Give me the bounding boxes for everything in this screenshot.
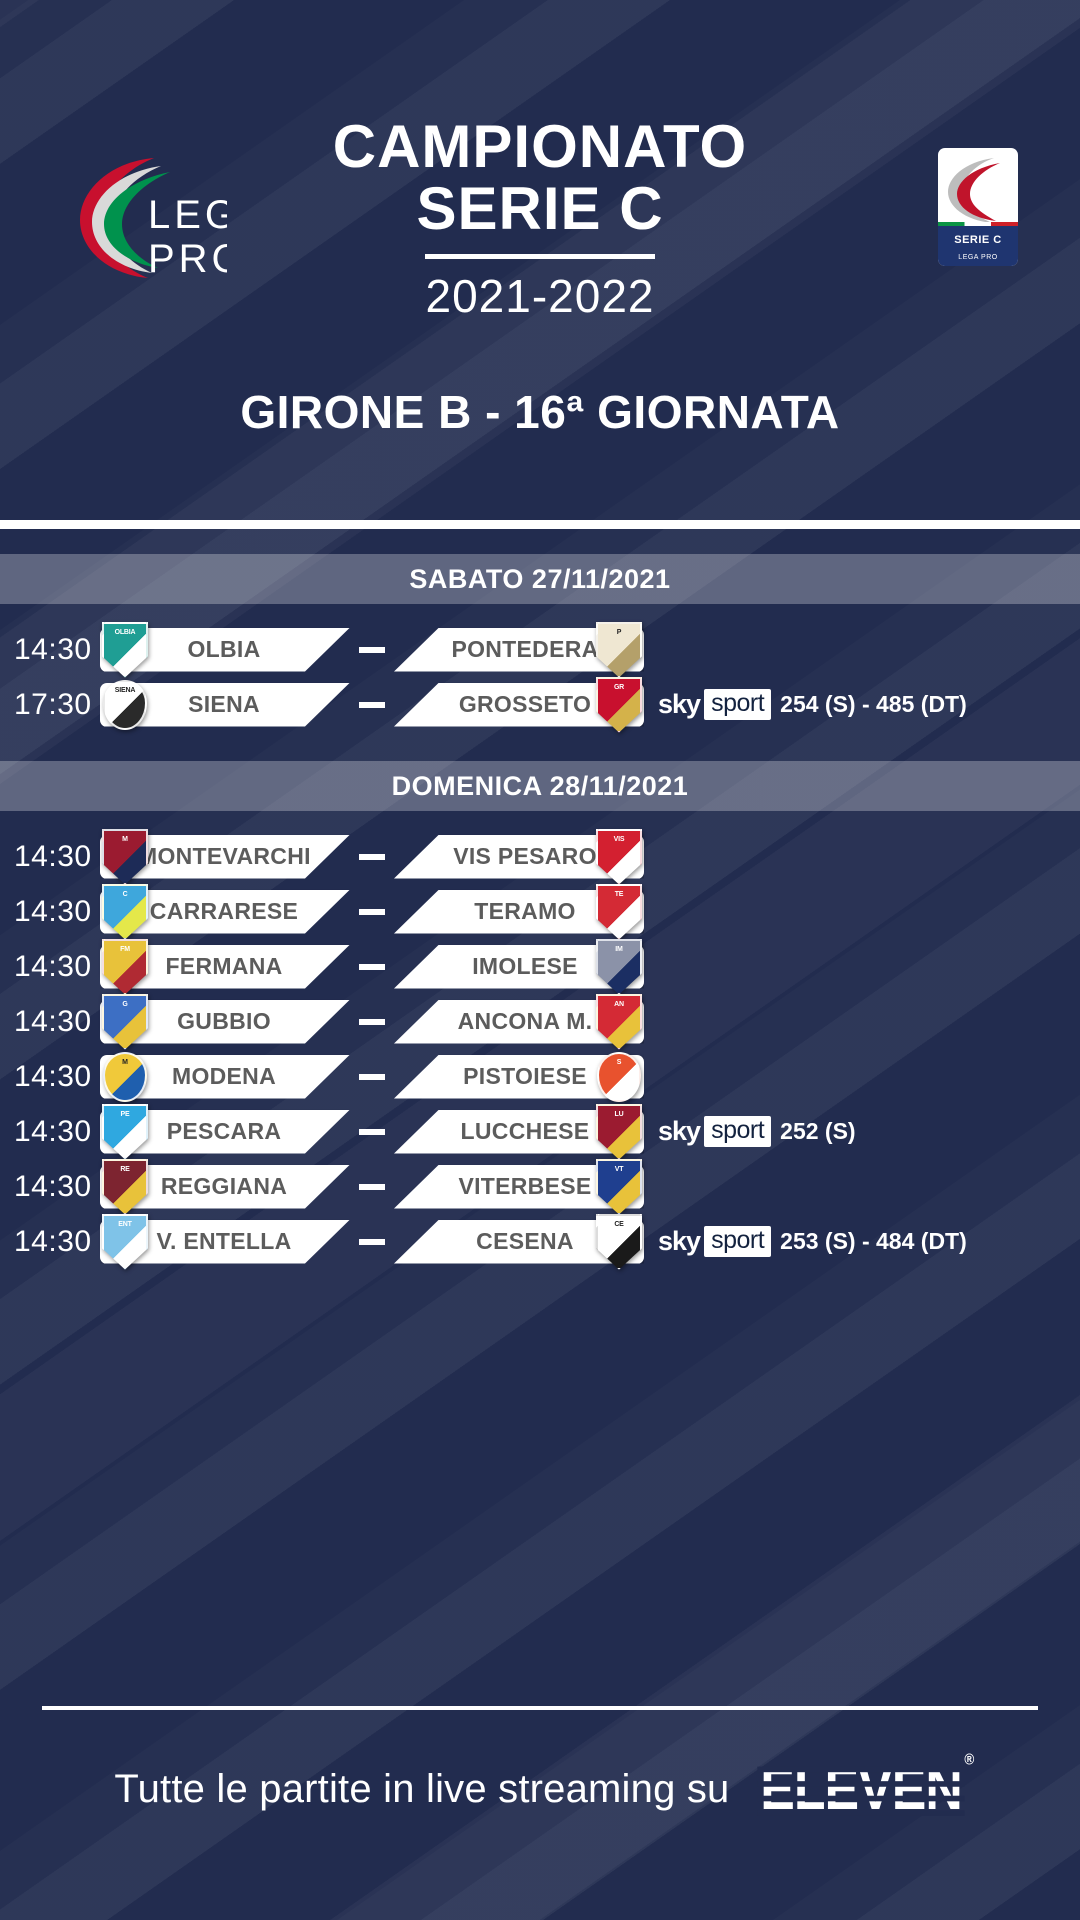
lega-pro-logo: LEGA PRO [62,140,227,290]
away-team[interactable]: ANCONA M.AN [394,1000,644,1044]
day-header-label: DOMENICA 28/11/2021 [392,771,689,802]
crest-graphic: VT [596,1159,642,1215]
crest-graphic: ENT [102,1214,148,1270]
match-teams: GUBBIOGANCONA M.AN [100,1000,644,1044]
match-row[interactable]: 14:30REGGIANAREVITERBESEVT [0,1159,1080,1214]
header-divider [0,520,1080,529]
spacer [0,732,1080,761]
crest-graphic: M [103,1052,147,1102]
siena-crest: SIENA [102,677,148,733]
away-team[interactable]: VITERBESEVT [394,1165,644,1209]
match-row[interactable]: 14:30MODENAMPISTOIESES [0,1049,1080,1104]
match-time: 14:30 [0,1170,100,1204]
match-time: 14:30 [0,633,100,667]
sport-wordmark: sport [704,1116,771,1146]
versus-separator [350,1074,394,1080]
day-header-2: DOMENICA 28/11/2021 [0,761,1080,811]
footer-divider [42,1706,1038,1710]
sport-wordmark: sport [704,1226,771,1256]
svg-text:LEGA: LEGA [148,193,227,237]
poster-footer: Tutte le partite in live streaming su EL… [0,1662,1080,1920]
crest-label: C [104,891,146,898]
match-row[interactable]: 14:30GUBBIOGANCONA M.AN [0,994,1080,1049]
grosseto-crest: GR [596,677,642,733]
crest-graphic: SIENA [103,680,147,730]
crest-graphic: FM [102,939,148,995]
giornata-label: GIRONE B - 16ª GIORNATA [0,385,1080,439]
spacer [0,604,1080,622]
carrarese-crest: C [102,884,148,940]
away-team[interactable]: IMOLESEIM [394,945,644,989]
versus-separator [350,909,394,915]
crest-label: VIS [598,836,640,843]
broadcast-info: skysport253 (S) - 484 (DT) [658,1226,967,1256]
broadcast-channels: 252 (S) [780,1118,855,1145]
crest-label: ENT [104,1221,146,1228]
crest-graphic: PE [102,1104,148,1160]
olbia-crest: OLBIA [102,622,148,678]
sky-sport-logo: skysport [658,1116,771,1146]
away-team[interactable]: VIS PESAROVIS [394,835,644,879]
home-team[interactable]: CARRARESEC [100,890,350,934]
versus-separator [350,1184,394,1190]
ancona-crest: AN [596,994,642,1050]
crest-label: TE [598,891,640,898]
crest-graphic: VIS [596,829,642,885]
home-team[interactable]: PESCARAPE [100,1110,350,1154]
crest-graphic: LU [596,1104,642,1160]
match-row[interactable]: 14:30PESCARAPELUCCHESELUskysport252 (S) [0,1104,1080,1159]
home-team[interactable]: SIENASIENA [100,683,350,727]
sport-wordmark: sport [704,689,771,719]
match-teams: SIENASIENAGROSSETOGR [100,683,644,727]
crest-graphic: C [102,884,148,940]
versus-separator [350,854,394,860]
match-time: 14:30 [0,895,100,929]
away-team[interactable]: LUCCHESELU [394,1110,644,1154]
serie-c-badge-title: SERIE C [938,234,1018,246]
crest-label: GR [598,684,640,691]
versus-separator [350,1239,394,1245]
home-team[interactable]: MONTEVARCHIM [100,835,350,879]
match-row[interactable]: 14:30CARRARESECTERAMOTE [0,884,1080,939]
match-row[interactable]: 14:30OLBIAOLBIAPONTEDERAP [0,622,1080,677]
home-team[interactable]: GUBBIOG [100,1000,350,1044]
match-time: 17:30 [0,688,100,722]
match-time: 14:30 [0,1225,100,1259]
matchday-poster: LEGA PRO SERIE C LEGA PRO CAMPIONATO SER… [0,0,1080,1920]
match-teams: MODENAMPISTOIESES [100,1055,644,1099]
match-row[interactable]: 14:30V. ENTELLAENTCESENACEskysport253 (S… [0,1214,1080,1269]
sky-wordmark: sky [658,1228,704,1255]
crest-label: RE [104,1166,146,1173]
crest-label: IM [598,946,640,953]
eleven-logo-tm: ® [964,1750,973,1768]
reggiana-crest: RE [102,1159,148,1215]
serie-c-badge-subtitle: LEGA PRO [938,254,1018,261]
home-team[interactable]: V. ENTELLAENT [100,1220,350,1264]
spacer [0,525,1080,554]
home-team[interactable]: FERMANAFM [100,945,350,989]
cesena-crest: CE [596,1214,642,1270]
gubbio-crest: G [102,994,148,1050]
poster-header: LEGA PRO SERIE C LEGA PRO CAMPIONATO SER… [0,0,1080,525]
streaming-text: Tutte le partite in live streaming su [114,1767,729,1812]
match-teams: MONTEVARCHIMVIS PESAROVIS [100,835,644,879]
match-row[interactable]: 17:30SIENASIENAGROSSETOGRskysport254 (S)… [0,677,1080,732]
home-team[interactable]: OLBIAOLBIA [100,628,350,672]
crest-label: SIENA [105,687,145,694]
crest-graphic: M [102,829,148,885]
vis-pesaro-crest: VIS [596,829,642,885]
lucchese-crest: LU [596,1104,642,1160]
pontedera-crest: P [596,622,642,678]
sky-sport-logo: skysport [658,689,771,719]
broadcast-info: skysport254 (S) - 485 (DT) [658,689,967,719]
match-row[interactable]: 14:30MONTEVARCHIMVIS PESAROVIS [0,829,1080,884]
svg-text:PRO: PRO [148,237,227,281]
crest-graphic: TE [596,884,642,940]
away-team[interactable]: TERAMOTE [394,890,644,934]
away-team[interactable]: PISTOIESES [394,1055,644,1099]
title-divider [425,254,655,259]
match-time: 14:30 [0,1005,100,1039]
match-row[interactable]: 14:30FERMANAFMIMOLESEIM [0,939,1080,994]
versus-separator [350,964,394,970]
crest-label: FM [104,946,146,953]
crest-graphic: CE [596,1214,642,1270]
crest-label: PE [104,1111,146,1118]
imolese-crest: IM [596,939,642,995]
viterbese-crest: VT [596,1159,642,1215]
versus-separator [350,1019,394,1025]
versus-separator [350,647,394,653]
eleven-logo-text: ELEVEN [760,1755,962,1822]
versus-separator [350,1129,394,1135]
crest-graphic: GR [596,677,642,733]
match-teams: FERMANAFMIMOLESEIM [100,945,644,989]
away-team[interactable]: CESENACE [394,1220,644,1264]
day-header-1: SABATO 27/11/2021 [0,554,1080,604]
crest-label: S [599,1059,639,1066]
broadcast-channels: 253 (S) - 484 (DT) [780,1228,967,1255]
sky-sport-logo: skysport [658,1226,771,1256]
crest-graphic: G [102,994,148,1050]
fixture-list: SABATO 27/11/202114:30OLBIAOLBIAPONTEDER… [0,525,1080,1269]
fermana-crest: FM [102,939,148,995]
away-team[interactable]: GROSSETOGR [394,683,644,727]
home-team[interactable]: MODENAM [100,1055,350,1099]
crest-graphic: OLBIA [102,622,148,678]
broadcast-channels: 254 (S) - 485 (DT) [780,691,967,718]
away-team[interactable]: PONTEDERAP [394,628,644,672]
eleven-sports-logo: ELEVEN ® [760,1754,962,1823]
crest-label: G [104,1001,146,1008]
crest-label: M [105,1059,145,1066]
home-team[interactable]: REGGIANARE [100,1165,350,1209]
pescara-crest: PE [102,1104,148,1160]
crest-label: P [598,629,640,636]
spacer [0,811,1080,829]
match-time: 14:30 [0,1060,100,1094]
crest-graphic: IM [596,939,642,995]
match-teams: CARRARESECTERAMOTE [100,890,644,934]
virtus-entella-crest: ENT [102,1214,148,1270]
serie-c-badge: SERIE C LEGA PRO [938,148,1018,266]
crest-label: OLBIA [104,629,146,636]
crest-label: VT [598,1166,640,1173]
crest-label: M [104,836,146,843]
crest-graphic: S [597,1052,641,1102]
crest-label: AN [598,1001,640,1008]
modena-crest: M [102,1049,148,1105]
crest-graphic: AN [596,994,642,1050]
versus-separator [350,702,394,708]
sky-wordmark: sky [658,691,704,718]
pistoiese-crest: S [596,1049,642,1105]
sky-wordmark: sky [658,1118,704,1145]
broadcast-info: skysport252 (S) [658,1116,856,1146]
teramo-crest: TE [596,884,642,940]
crest-graphic: P [596,622,642,678]
match-teams: REGGIANAREVITERBESEVT [100,1165,644,1209]
match-time: 14:30 [0,1115,100,1149]
day-header-label: SABATO 27/11/2021 [409,564,670,595]
crest-graphic: RE [102,1159,148,1215]
match-teams: V. ENTELLAENTCESENACE [100,1220,644,1264]
match-time: 14:30 [0,950,100,984]
montevarchi-crest: M [102,829,148,885]
match-teams: PESCARAPELUCCHESELU [100,1110,644,1154]
match-time: 14:30 [0,840,100,874]
crest-label: LU [598,1111,640,1118]
crest-label: CE [598,1221,640,1228]
match-teams: OLBIAOLBIAPONTEDERAP [100,628,644,672]
